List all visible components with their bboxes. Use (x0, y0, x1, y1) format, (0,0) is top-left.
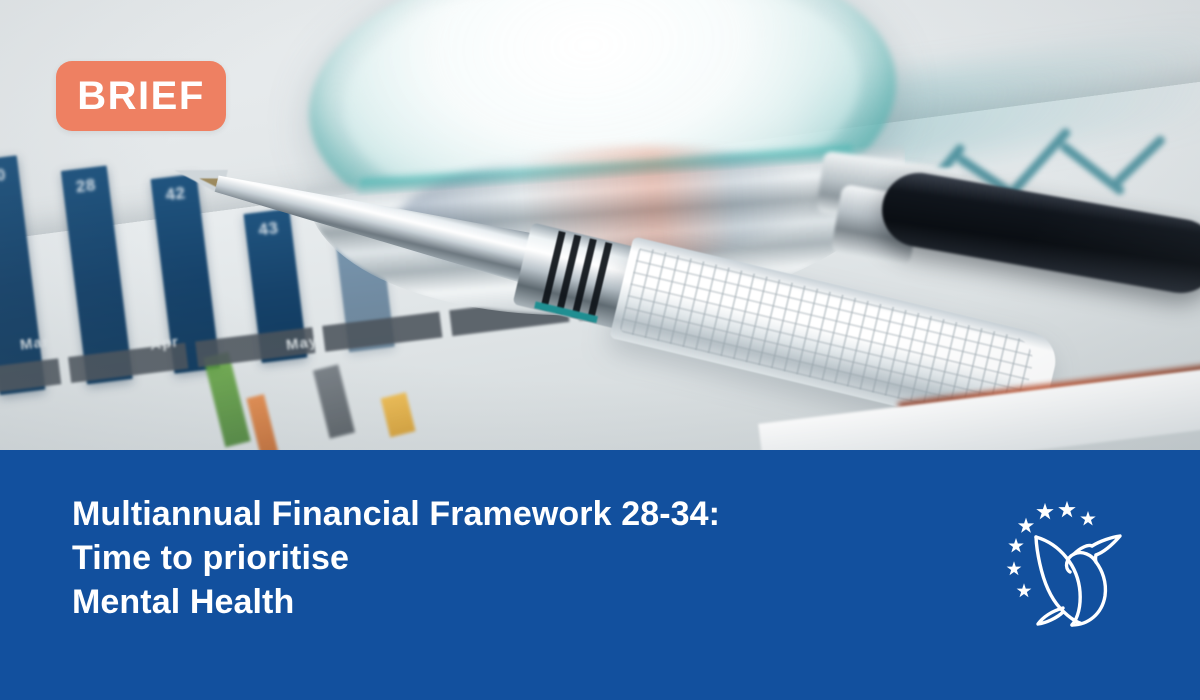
brief-banner: 30 28 42 43 Mar Apr May (0, 0, 1200, 700)
page-title: Multiannual Financial Framework 28-34: T… (72, 492, 932, 624)
page-title-line-1: Multiannual Financial Framework 28-34: (72, 492, 932, 536)
page-title-line-3: Mental Health (72, 580, 932, 624)
bird-outline (1036, 536, 1120, 625)
brief-badge: BRIEF (56, 61, 226, 131)
mental-health-europe-logo (1000, 492, 1140, 632)
brief-badge-label: BRIEF (77, 76, 205, 116)
page-title-line-2: Time to prioritise (72, 536, 932, 580)
